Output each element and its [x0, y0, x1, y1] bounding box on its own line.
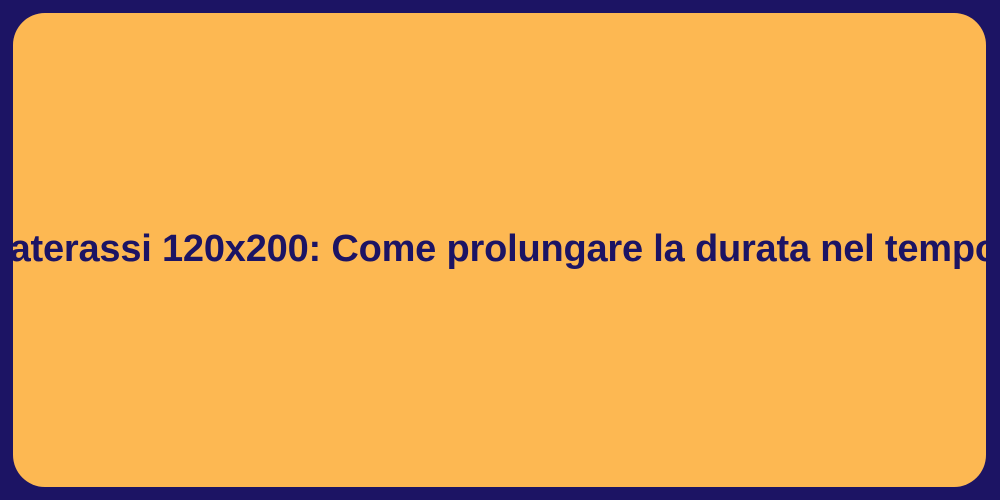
- banner-card: Materassi 120x200: Come prolungare la du…: [13, 13, 986, 487]
- banner-frame: Materassi 120x200: Come prolungare la du…: [0, 0, 1000, 500]
- banner-headline: Materassi 120x200: Come prolungare la du…: [13, 226, 986, 274]
